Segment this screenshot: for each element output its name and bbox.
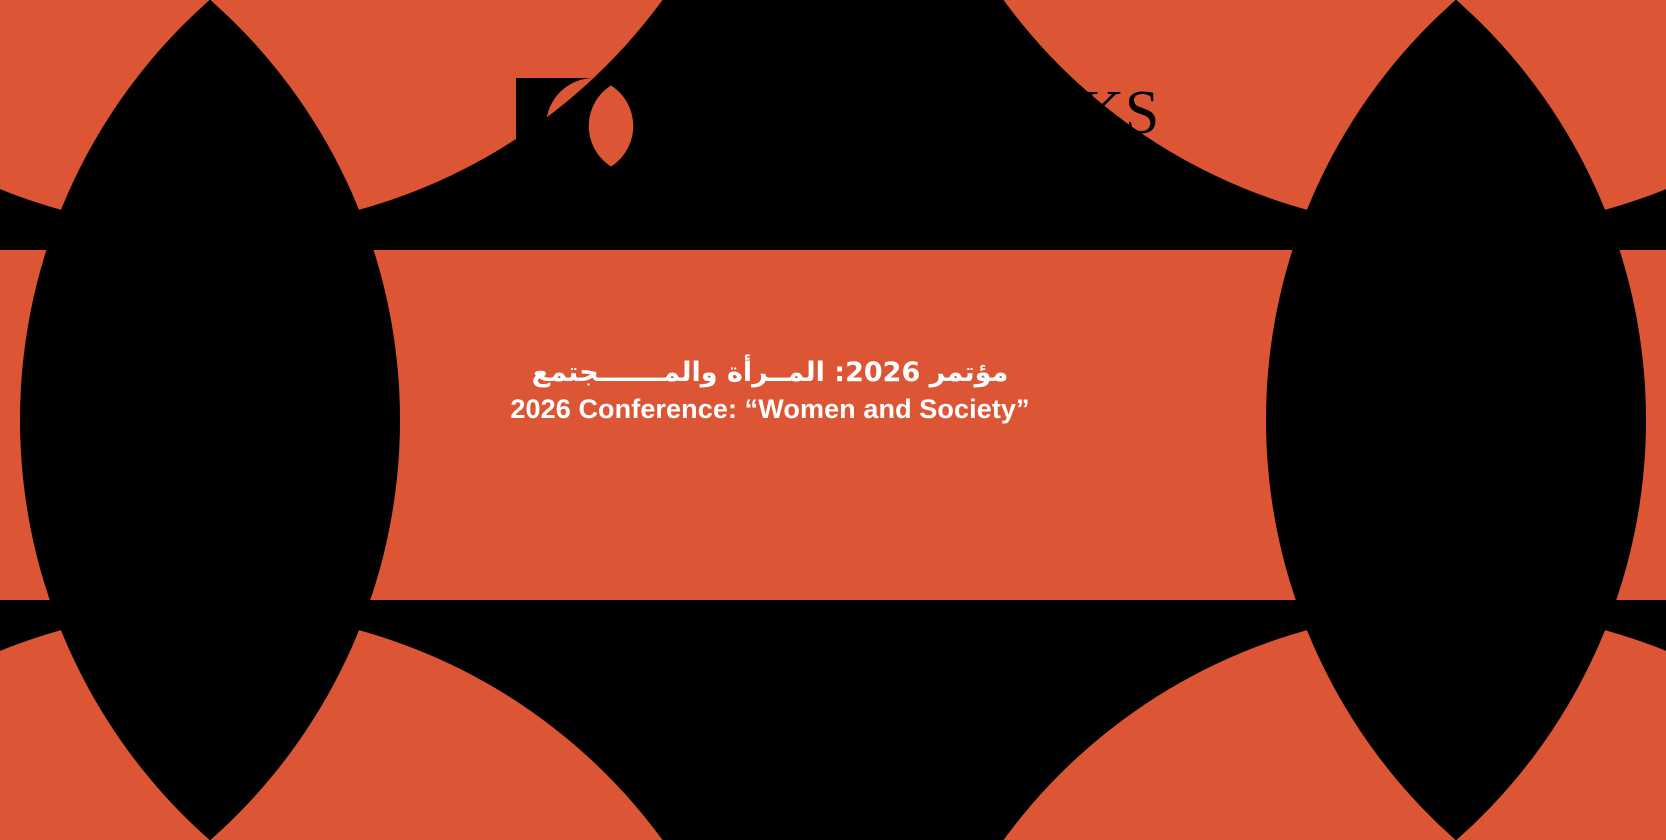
brand-lockup: JADAL TALKS	[516, 78, 1160, 198]
conference-title-arabic: مؤتمر 2026: المــرأة والمـــــــجتمع	[0, 355, 1540, 391]
conference-title-english: 2026 Conference: “Women and Society”	[0, 391, 1540, 427]
slide-canvas: JADAL TALKS مؤتمر 2026: المــرأة والمـــ…	[0, 0, 1666, 840]
conference-title-block: مؤتمر 2026: المــرأة والمـــــــجتمع 202…	[0, 355, 1540, 428]
jadal-logo-mark	[516, 78, 706, 198]
brand-wordmark: JADAL TALKS	[751, 82, 1160, 144]
logo-dot-left	[545, 184, 559, 198]
logo-dot-right	[661, 184, 675, 198]
